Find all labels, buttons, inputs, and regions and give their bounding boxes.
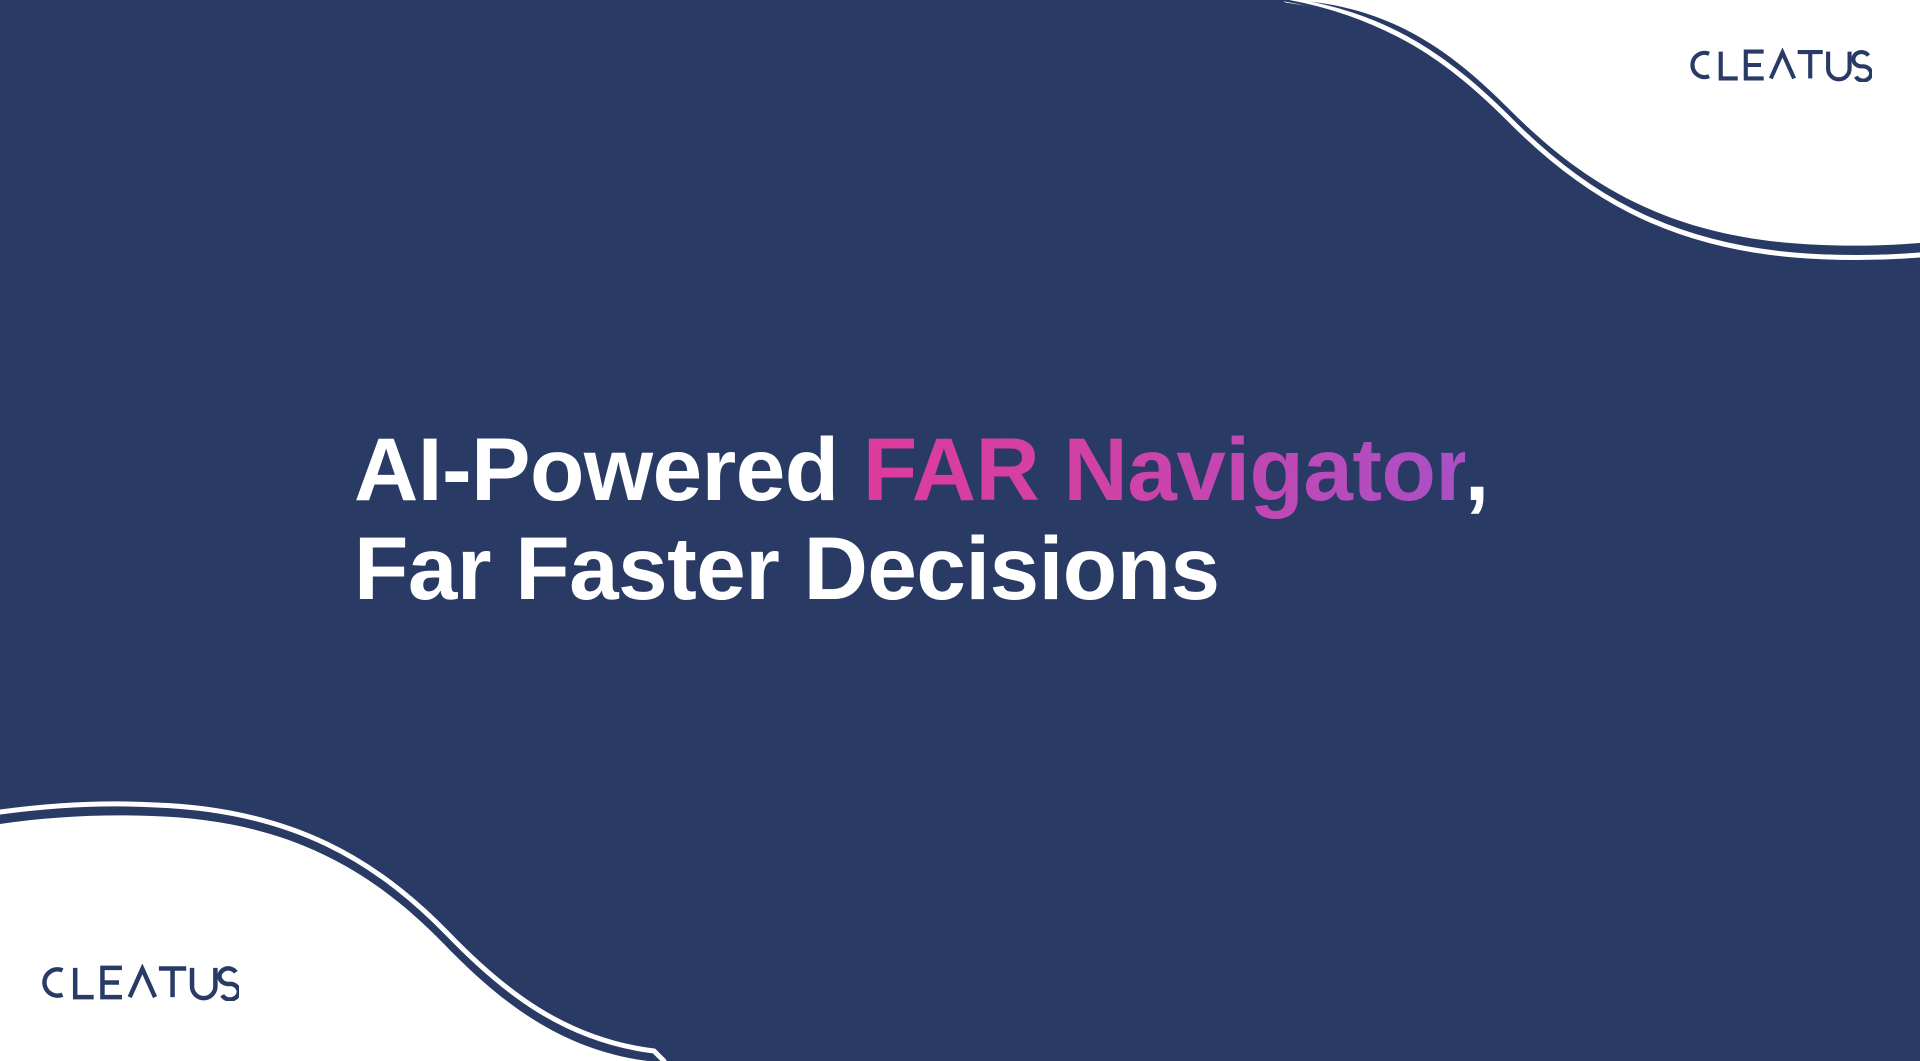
title-comma: , (1465, 419, 1489, 519)
title-accent-phrase: FAR Navigator (863, 419, 1465, 519)
cleatus-wordmark-icon (1684, 48, 1872, 82)
cleatus-logo-bottom-left (36, 964, 239, 1001)
title-slide: AI-Powered FAR Navigator, Far Faster Dec… (0, 0, 1920, 1061)
page-title: AI-Powered FAR Navigator, Far Faster Dec… (354, 420, 1654, 618)
title-prefix: AI-Powered (354, 419, 863, 519)
cleatus-logo-top-right (1684, 48, 1872, 82)
title-line-1: AI-Powered FAR Navigator, (354, 420, 1654, 519)
title-line-2: Far Faster Decisions (354, 519, 1654, 618)
cleatus-wordmark-icon (36, 964, 239, 1001)
